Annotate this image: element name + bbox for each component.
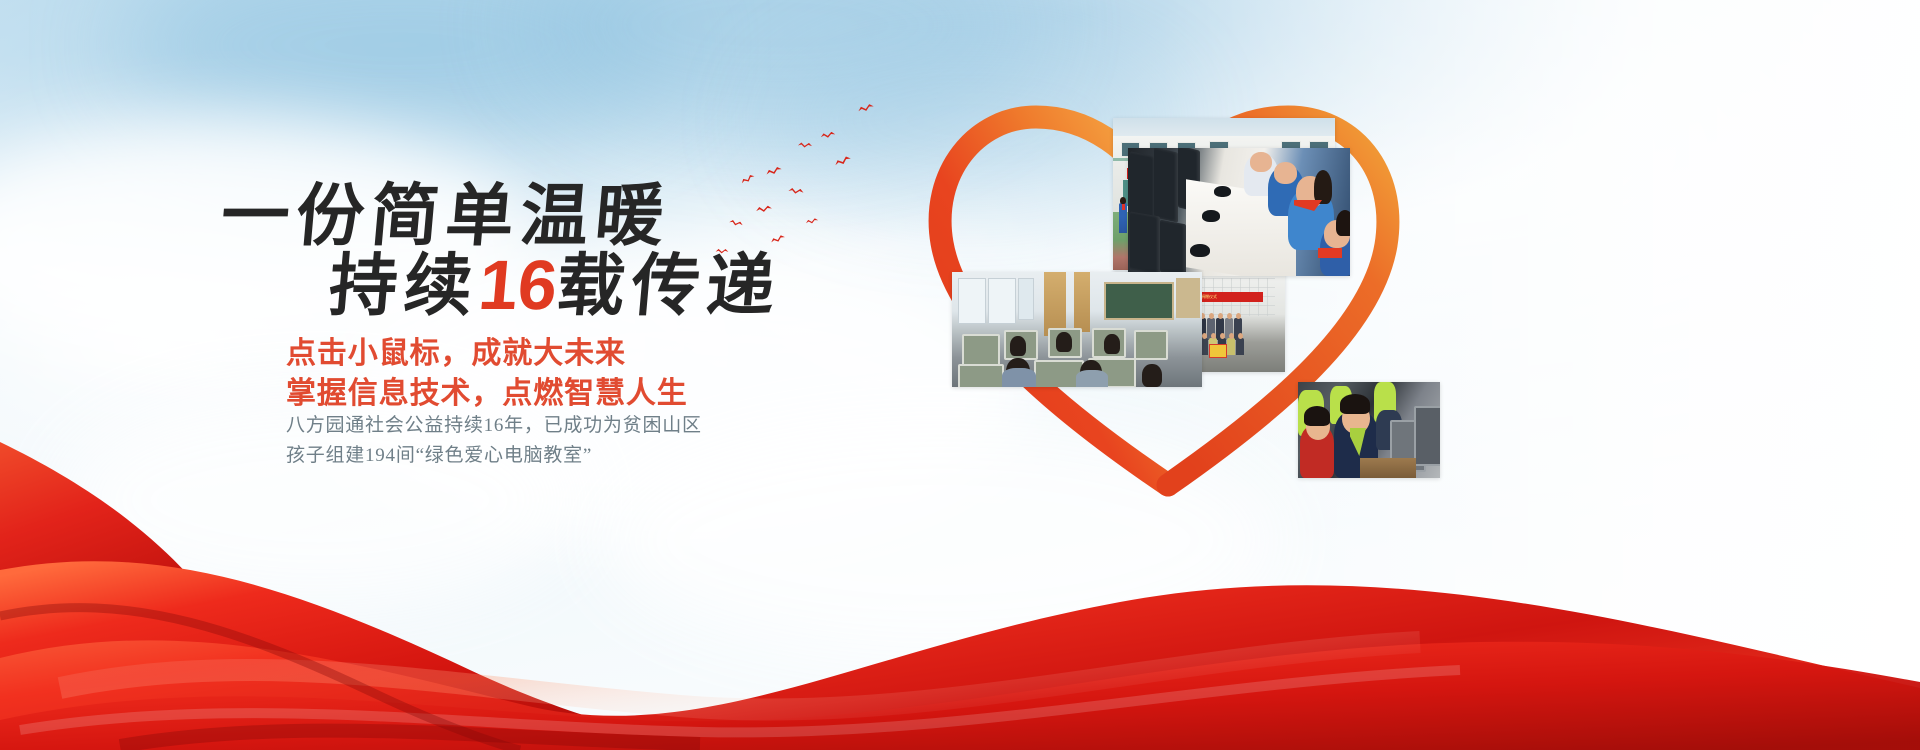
bird-icon bbox=[729, 219, 744, 229]
bird-icon bbox=[740, 174, 756, 186]
bird-icon bbox=[765, 166, 782, 177]
bird-icon bbox=[770, 234, 786, 245]
headline-line-2-prefix: 持续 bbox=[326, 248, 482, 324]
subheadline-line-1: 点击小鼠标，成就大未来 bbox=[286, 328, 626, 372]
photo-computer-classroom bbox=[952, 272, 1202, 387]
bird-icon bbox=[798, 142, 813, 150]
subheadline-line-2: 掌握信息技术，点燃智慧人生 bbox=[286, 368, 688, 412]
bird-icon bbox=[820, 131, 835, 139]
bird-icon bbox=[788, 187, 804, 196]
photo-students-computers-row bbox=[1128, 148, 1350, 276]
bird-icon bbox=[756, 205, 773, 214]
bird-icon bbox=[715, 248, 728, 254]
bird-icon bbox=[834, 155, 852, 168]
headline-years-number: 16 bbox=[476, 246, 561, 324]
promo-banner: 一份简单温暖 持续16载传递 点击小鼠标，成就大未来 掌握信息技术，点燃智慧人生… bbox=[0, 0, 1920, 750]
bird-icon bbox=[805, 218, 818, 226]
red-ribbon-decoration bbox=[0, 420, 1920, 750]
